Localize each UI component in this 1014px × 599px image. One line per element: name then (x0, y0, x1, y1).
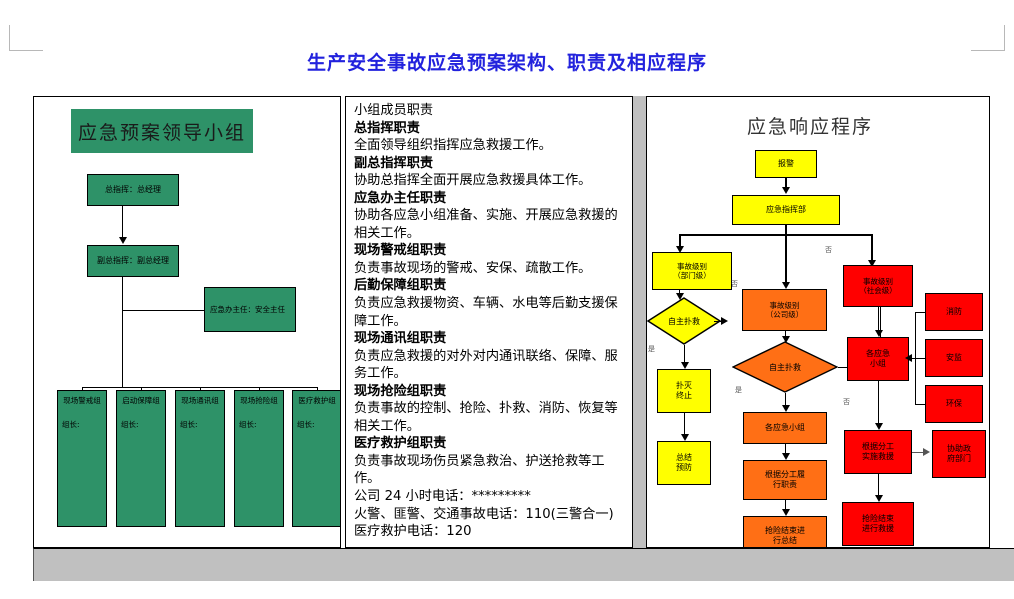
flow-node-teams-red: 各应急 小组 (847, 337, 909, 381)
decision-label-no: 否 (825, 245, 832, 255)
decision-label-no: 否 (843, 397, 850, 407)
section-title: 医疗救护组职责 (354, 435, 626, 453)
contact-line: 医疗救护电话：120 (354, 523, 626, 541)
org-team-name: 现场抢险组 (240, 396, 278, 405)
decision-label-no: 否 (731, 279, 738, 289)
section-body: 负责事故现场的警戒、安保、疏散工作。 (354, 260, 626, 278)
flow-node-summary: 总结 预防 (657, 441, 711, 485)
connector (915, 312, 925, 313)
arrow-icon (681, 434, 689, 441)
flow-node-safety-supervision: 安监 (925, 339, 983, 377)
section-body: 负责应急救援的对外对内通讯联络、保障、服务工作。 (354, 348, 626, 383)
flow-node-level-company: 事故级别 （公司级） (742, 289, 827, 331)
org-team-leader: 组长: (239, 419, 257, 430)
connector (878, 381, 879, 428)
flow-node-alarm: 报警 (755, 150, 817, 178)
responsibilities-heading: 小组成员职责 (354, 102, 626, 120)
section-title: 后勤保障组职责 (354, 277, 626, 295)
arrow-icon (782, 187, 790, 194)
flow-decision-self-rescue-dept: 自主扑救 (647, 297, 721, 345)
org-team-name: 现场警戒组 (63, 396, 101, 405)
section-body: 协助各应急小组准备、实施、开展应急救援的相关工作。 (354, 207, 626, 242)
page-title: 生产安全事故应急预案架构、职责及相应程序 (0, 48, 1014, 75)
flow-node-teams-orange: 各应急小组 (743, 412, 827, 444)
section-title: 应急办主任职责 (354, 190, 626, 208)
org-team-name: 启动保障组 (122, 396, 160, 405)
flow-node-fire-department: 消防 (925, 293, 983, 331)
contact-line: 火警、匪警、交通事故电话：110(三警合一) (354, 506, 626, 524)
flow-decision-label: 自主扑救 (769, 362, 801, 373)
flow-node-duty-orange: 根据分工履 行职责 (743, 460, 827, 500)
flow-node-hq: 应急指挥部 (732, 195, 840, 225)
connector (915, 404, 925, 405)
flow-node-assist-government: 协助政 府部门 (932, 430, 986, 478)
section-body: 负责应急救援物资、车辆、水电等后勤支援保障工作。 (354, 295, 626, 330)
flowchart-header: 应急响应程序 (725, 107, 895, 143)
org-team-name: 医疗救护组 (298, 396, 336, 405)
arrow-icon (923, 448, 930, 456)
document-page: 生产安全事故应急预案架构、职责及相应程序 应急预案领导小组 总指挥：总经理 副总… (0, 0, 1014, 599)
section-title: 现场通讯组职责 (354, 330, 626, 348)
org-node-vice-commander: 副总指挥：副总经理 (87, 245, 179, 277)
org-node-emergency-office: 应急办主任：安全主任 (204, 287, 296, 332)
arrow-icon (782, 453, 790, 460)
arrow-icon (681, 362, 689, 369)
flow-decision-self-rescue-company: 自主扑救 (732, 341, 838, 393)
arrow-icon (782, 509, 790, 516)
org-team-box: 现场警戒组 (57, 390, 107, 527)
decision-label-yes: 是 (648, 344, 655, 354)
connector (871, 234, 873, 262)
org-team-name: 现场通讯组 (181, 396, 219, 405)
section-title: 副总指挥职责 (354, 155, 626, 173)
flow-node-level-social: 事故级别 （社会级） (843, 265, 913, 307)
connector (714, 321, 726, 322)
arrow-icon (875, 495, 883, 502)
org-team-leader: 组长: (62, 419, 80, 430)
section-body: 全面领导组织指挥应急救援工作。 (354, 137, 626, 155)
section-body: 负责事故的控制、抢险、扑救、消防、恢复等相关工作。 (354, 400, 626, 435)
org-team-leader: 组长: (297, 419, 315, 430)
connector (785, 234, 787, 284)
contact-line: 公司 24 小时电话：********* (354, 488, 626, 506)
connector (122, 277, 123, 387)
flow-node-rescue-by-duty: 根据分工 实施救援 (844, 430, 912, 474)
responsibilities-text: 小组成员职责 总指挥职责 全面领导组织指挥应急救援工作。 副总指挥职责 协助总指… (354, 102, 626, 541)
panel-divider (633, 96, 646, 548)
org-node-commander: 总指挥：总经理 (87, 174, 179, 206)
flow-node-end-orange: 抢险结束进 行总结 (743, 516, 827, 548)
arrow-icon (782, 282, 790, 289)
arrow-icon (905, 354, 912, 362)
page-bottom-spacer (0, 581, 1014, 599)
org-team-box: 启动保障组 (116, 390, 166, 527)
arrow-icon (782, 405, 790, 412)
arrow-icon (875, 330, 883, 337)
panel-responsibilities: 小组成员职责 总指挥职责 全面领导组织指挥应急救援工作。 副总指挥职责 协助总指… (345, 96, 633, 548)
panel-response-flowchart: 应急响应程序 报警 应急指挥部 事故级别 （部门级） 自主扑救 (646, 96, 990, 548)
org-team-leader: 组长: (121, 419, 139, 430)
section-body: 负责事故现场伤员紧急救治、护送抢救等工作。 (354, 453, 626, 488)
section-title: 现场警戒组职责 (354, 242, 626, 260)
org-team-box: 现场抢险组 (234, 390, 284, 527)
flow-decision-label: 自主扑救 (668, 316, 700, 327)
flow-node-rescue-finished: 抢险结束 进行救援 (842, 502, 914, 546)
arrow-icon (875, 423, 883, 430)
section-title: 总指挥职责 (354, 120, 626, 138)
flow-node-extinguish: 扑灭 终止 (657, 369, 711, 413)
org-team-box: 医疗救护组 (292, 390, 341, 527)
org-team-leader: 组长: (180, 419, 198, 430)
connector-bus (679, 234, 872, 236)
page-bottom-band (33, 548, 1014, 581)
org-chart-header: 应急预案领导小组 (71, 109, 253, 153)
section-body: 协助总指挥全面开展应急救援具体工作。 (354, 172, 626, 190)
flow-node-level-department: 事故级别 （部门级） (652, 252, 732, 290)
section-title: 现场抢险组职责 (354, 383, 626, 401)
panel-org-chart: 应急预案领导小组 总指挥：总经理 副总指挥：副总经理 应急办主任：安全主任 现场… (33, 96, 341, 548)
decision-label-yes: 是 (735, 385, 742, 395)
connector (122, 310, 204, 311)
flow-node-environment-protection: 环保 (925, 385, 983, 423)
arrow-icon (119, 237, 127, 244)
org-team-box: 现场通讯组 (175, 390, 225, 527)
